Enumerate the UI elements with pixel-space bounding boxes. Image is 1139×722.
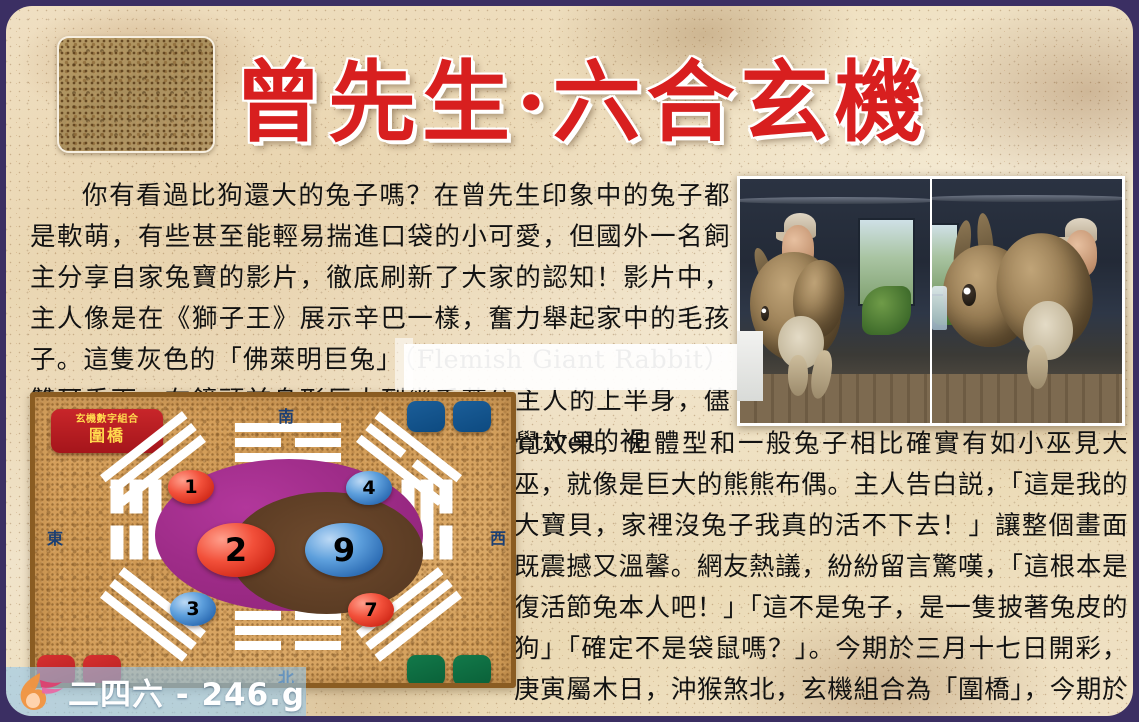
pin-top-right-blue: [407, 401, 445, 432]
watermark-text: 二四六 - 246.gd: [68, 669, 306, 714]
watermark: 二四六 - 246.gd: [6, 667, 306, 716]
white-callout-overlay: [404, 344, 756, 390]
photo-corner-notch: [737, 331, 763, 401]
ball-4[interactable]: 4: [346, 471, 392, 505]
trigram-south-li: [235, 423, 341, 462]
direction-label-west: 西: [490, 525, 506, 549]
pin-top-right-blue-2: [453, 401, 491, 432]
ball-7[interactable]: 7: [348, 593, 394, 627]
rabbit-paw-icon: [1027, 345, 1048, 389]
pin-bottom-right-green-2: [453, 655, 491, 686]
flame-six-logo: [10, 670, 66, 714]
page-header: 曾先生·六合玄機: [6, 6, 1133, 166]
page-title: 曾先生·六合玄機: [234, 46, 1104, 158]
giant-rabbit-photo: [737, 176, 1125, 426]
plant-leaf-icon: [862, 286, 911, 335]
article-text-right: 覺效果，但體型和一般兔子相比確實有如小巫見大巫，就像是巨大的熊熊布偶。主人告白説…: [514, 429, 1128, 716]
rabbit-eye-icon: [761, 306, 770, 321]
white-callout-overlay-edge: [395, 338, 413, 390]
ball-9[interactable]: 9: [305, 523, 383, 577]
parchment-background: 曾先生·六合玄機: [6, 6, 1133, 716]
direction-label-south: 南: [278, 403, 294, 427]
photo-panel-right: [930, 179, 1122, 423]
direction-label-east: 東: [47, 525, 63, 549]
ball-3[interactable]: 3: [170, 592, 216, 626]
wooden-deck: [932, 374, 1122, 423]
cork-texture-thumbnail: [57, 36, 215, 153]
pin-bottom-right-green: [407, 655, 445, 686]
photo-panel-left: [740, 179, 930, 423]
poster-page: 曾先生·六合玄機: [0, 0, 1139, 722]
bottle-icon: [932, 286, 947, 330]
rabbit-eye-icon: [962, 284, 975, 306]
tent-rope-icon: [740, 197, 930, 204]
trigram-north-kan: [235, 611, 341, 650]
ball-2[interactable]: 2: [197, 523, 275, 577]
bagua-cork-board: 玄機數字組合 圍橋: [30, 392, 516, 688]
tent-rope-icon: [930, 195, 1122, 202]
wooden-deck: [740, 374, 930, 423]
combination-label: 玄機數字組合: [51, 413, 163, 426]
ball-1[interactable]: 1: [168, 470, 214, 504]
article-paragraph-right: 覺效果，但體型和一般兔子相比確實有如小巫見大巫，就像是巨大的熊熊布偶。主人告白説…: [514, 424, 1128, 716]
